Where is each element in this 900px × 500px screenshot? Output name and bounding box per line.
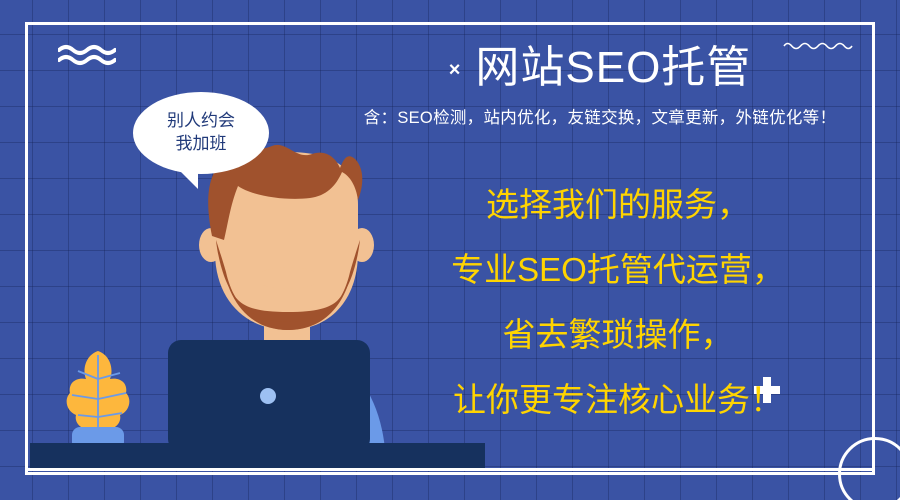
desk-edge-line [27,468,875,471]
seo-hosting-banner: × 网站SEO托管 含：SEO检测，站内优化，友链交换，文章更新，外链优化等！ … [0,0,900,500]
speech-bubble: 别人约会 我加班 [133,92,269,174]
laptop-logo-icon [260,388,276,404]
desk-surface [30,443,485,469]
potted-plant [48,345,148,450]
speech-bubble-line-1: 别人约会 [167,110,235,133]
speech-bubble-line-2: 我加班 [176,133,227,156]
mouth-shape [256,267,320,289]
laptop [168,340,370,452]
